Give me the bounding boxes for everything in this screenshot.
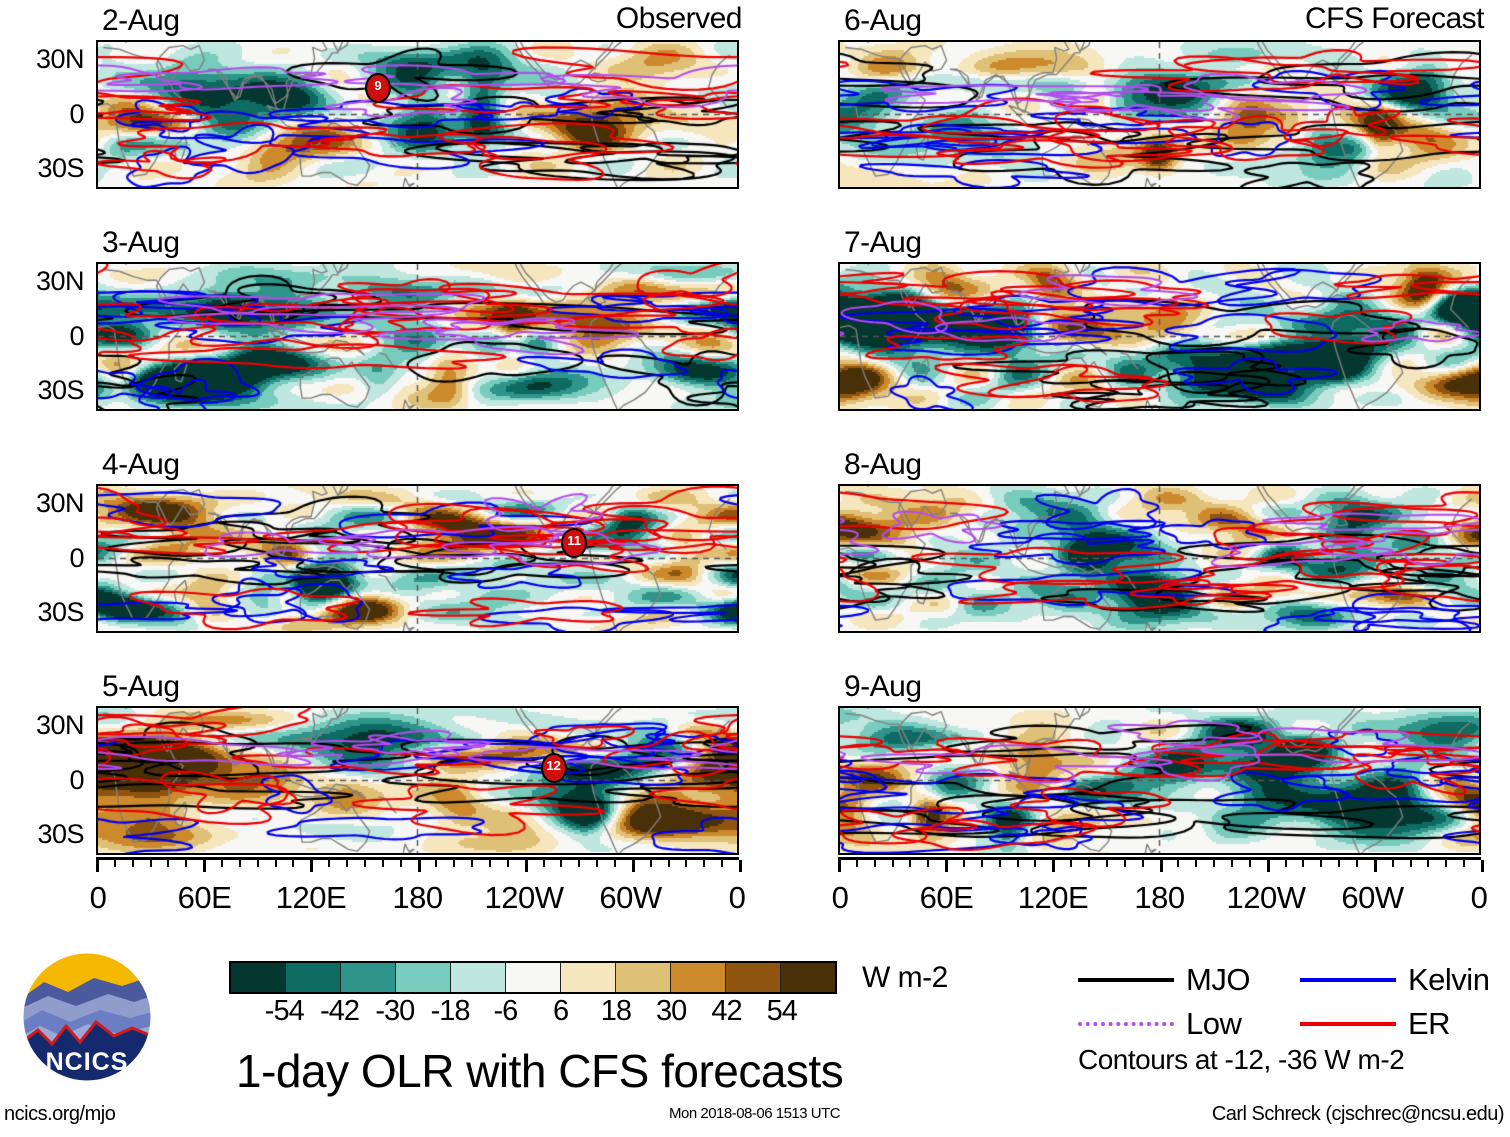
x-axis-label: 0 xyxy=(1419,882,1510,913)
map-panel-7-aug xyxy=(838,262,1481,411)
x-axis-tick xyxy=(909,860,911,867)
x-axis-tick xyxy=(275,860,277,867)
x-axis-tick xyxy=(221,860,223,867)
x-axis-tick xyxy=(418,860,421,872)
x-axis-tick xyxy=(292,860,294,867)
x-axis-tick xyxy=(185,860,187,867)
olr-shading-canvas xyxy=(840,42,1479,187)
colorbar-ticks: -54-42-30-18-6618304254 xyxy=(229,997,837,1029)
legend-label: MJO xyxy=(1186,965,1250,995)
map-panel-5-aug xyxy=(96,706,739,855)
colorbar-tick-label: 18 xyxy=(601,997,631,1026)
x-axis-label: 60E xyxy=(887,882,1007,913)
x-axis-tick xyxy=(945,860,948,872)
x-axis-tick xyxy=(739,860,742,872)
map-panel-4-aug xyxy=(96,484,739,633)
x-axis-tick xyxy=(685,860,687,867)
x-axis-tick xyxy=(596,860,598,867)
panel-date-label: 5-Aug xyxy=(102,672,180,702)
map-panel-8-aug xyxy=(838,484,1481,633)
olr-shading-canvas xyxy=(98,708,737,853)
map-panel-9-aug xyxy=(838,706,1481,855)
x-axis-label: 60W xyxy=(571,882,691,913)
x-axis-tick xyxy=(453,860,455,867)
colorbar-swatch xyxy=(451,963,506,992)
x-axis-tick xyxy=(1231,860,1233,867)
footer-author: Carl Schreck (cjschrec@ncsu.edu) xyxy=(1212,1104,1504,1124)
x-axis-tick xyxy=(1017,860,1019,867)
x-axis-tick xyxy=(1320,860,1322,867)
colorbar-swatch xyxy=(506,963,561,992)
x-axis-tick xyxy=(1160,860,1163,872)
x-axis-tick xyxy=(525,860,528,872)
olr-shading-canvas xyxy=(98,264,737,409)
panel-date-label: 3-Aug xyxy=(102,228,180,258)
svg-text:NCICS: NCICS xyxy=(46,1048,129,1076)
x-axis-tick xyxy=(507,860,509,867)
ncics-logo-graphic: NCICS xyxy=(22,952,152,1082)
olr-shading-canvas xyxy=(840,708,1479,853)
colorbar-swatch xyxy=(781,963,835,992)
x-axis-tick xyxy=(346,860,348,867)
olr-shading-canvas xyxy=(840,486,1479,631)
colorbar-swatch xyxy=(616,963,671,992)
x-axis-tick xyxy=(96,860,99,872)
colorbar-swatch xyxy=(726,963,781,992)
x-axis-tick xyxy=(382,860,384,867)
y-axis-label: 30S xyxy=(0,155,84,182)
x-axis-tick-bar xyxy=(838,857,1481,872)
map-panel-6-aug xyxy=(838,40,1481,189)
x-axis-tick xyxy=(703,860,705,867)
legend-label: ER xyxy=(1408,1009,1450,1039)
footer-timestamp: Mon 2018-08-06 1513 UTC xyxy=(669,1104,840,1124)
colorbar-tick-label: -42 xyxy=(320,997,359,1026)
x-axis-tick xyxy=(1302,860,1304,867)
colorbar-tick-label: 54 xyxy=(767,997,797,1026)
x-axis-tick xyxy=(239,860,241,867)
storm-marker: 12 xyxy=(541,753,567,783)
x-axis-tick xyxy=(471,860,473,867)
y-axis-label: 30N xyxy=(0,268,84,295)
x-axis-label: 60W xyxy=(1313,882,1433,913)
y-axis-label: 0 xyxy=(0,323,84,350)
x-axis-tick xyxy=(632,860,635,872)
colorbar-swatch xyxy=(341,963,396,992)
x-axis-tick xyxy=(963,860,965,867)
panel-date-label: 6-Aug xyxy=(844,6,922,36)
colorbar-tick-label: 30 xyxy=(656,997,686,1026)
colorbar-tick-label: -54 xyxy=(265,997,304,1026)
x-axis-tick xyxy=(1124,860,1126,867)
x-axis-label: 180 xyxy=(1100,882,1220,913)
x-axis-tick xyxy=(1410,860,1412,867)
x-axis-label: 120W xyxy=(1206,882,1326,913)
x-axis-tick xyxy=(1052,860,1055,872)
x-axis-label: 120E xyxy=(251,882,371,913)
x-axis-label: 180 xyxy=(358,882,478,913)
olr-shading-canvas xyxy=(98,486,737,631)
x-axis-tick-bar xyxy=(96,857,739,872)
x-axis-tick xyxy=(1392,860,1394,867)
colorbar-tick-label: 6 xyxy=(553,997,568,1026)
legend-swatch-line xyxy=(1300,1022,1396,1026)
x-axis-tick xyxy=(489,860,491,867)
x-axis-tick xyxy=(1213,860,1215,867)
x-axis-tick xyxy=(203,860,206,872)
y-axis-label: 30N xyxy=(0,46,84,73)
y-axis-label: 0 xyxy=(0,545,84,572)
x-axis-tick xyxy=(1481,860,1484,872)
y-axis-label: 30N xyxy=(0,490,84,517)
colorbar-tick-label: 42 xyxy=(711,997,741,1026)
colorbar-tick-label: -30 xyxy=(375,997,414,1026)
x-axis-tick xyxy=(257,860,259,867)
x-axis-tick xyxy=(310,860,313,872)
x-axis-tick xyxy=(1338,860,1340,867)
x-axis-tick xyxy=(364,860,366,867)
y-axis-label: 30S xyxy=(0,599,84,626)
x-axis-label: 0 xyxy=(677,882,797,913)
x-axis-tick xyxy=(999,860,1001,867)
x-axis-tick xyxy=(114,860,116,867)
x-axis-tick xyxy=(543,860,545,867)
panel-date-label: 9-Aug xyxy=(844,672,922,702)
x-axis-tick xyxy=(328,860,330,867)
x-axis-tick xyxy=(1249,860,1251,867)
x-axis-tick xyxy=(1195,860,1197,867)
storm-marker: 9 xyxy=(365,73,391,103)
x-axis-tick xyxy=(892,860,894,867)
x-axis-tick xyxy=(578,860,580,867)
column-header-forecast: CFS Forecast xyxy=(1305,4,1484,34)
y-axis-label: 0 xyxy=(0,767,84,794)
x-axis-tick xyxy=(874,860,876,867)
ncics-logo: NCICS xyxy=(22,952,152,1082)
colorbar-swatch xyxy=(231,963,286,992)
x-axis-tick xyxy=(650,860,652,867)
x-axis-tick xyxy=(1034,860,1036,867)
x-axis-tick xyxy=(132,860,134,867)
map-panel-2-aug xyxy=(96,40,739,189)
x-axis-tick xyxy=(1070,860,1072,867)
x-axis-tick xyxy=(1356,860,1358,867)
y-axis-label: 30S xyxy=(0,821,84,848)
legend-note: Contours at -12, -36 W m-2 xyxy=(1078,1046,1404,1074)
olr-shading-canvas xyxy=(98,42,737,187)
x-axis-tick xyxy=(1267,860,1270,872)
x-axis-tick xyxy=(1445,860,1447,867)
x-axis-tick xyxy=(1142,860,1144,867)
olr-shading-canvas xyxy=(840,264,1479,409)
panel-date-label: 8-Aug xyxy=(844,450,922,480)
x-axis-tick xyxy=(1106,860,1108,867)
x-axis-tick xyxy=(856,860,858,867)
colorbar-units-label: W m-2 xyxy=(862,963,948,993)
x-axis-tick xyxy=(1285,860,1287,867)
legend-swatch-line xyxy=(1300,978,1396,982)
colorbar-swatch xyxy=(286,963,341,992)
legend-label: Low xyxy=(1186,1009,1241,1039)
legend-swatch-line xyxy=(1078,978,1174,982)
x-axis-tick xyxy=(400,860,402,867)
chart-title: 1-day OLR with CFS forecasts xyxy=(236,1046,843,1096)
x-axis-label: 120W xyxy=(464,882,584,913)
x-axis-tick xyxy=(927,860,929,867)
panel-date-label: 7-Aug xyxy=(844,228,922,258)
x-axis-tick xyxy=(1463,860,1465,867)
x-axis-tick xyxy=(838,860,841,872)
x-axis-label: 120E xyxy=(993,882,1113,913)
y-axis-label: 30N xyxy=(0,712,84,739)
x-axis-tick xyxy=(981,860,983,867)
x-axis-tick xyxy=(167,860,169,867)
panel-date-label: 4-Aug xyxy=(102,450,180,480)
colorbar xyxy=(229,961,837,994)
column-header-observed: Observed xyxy=(616,4,742,34)
x-axis-tick xyxy=(1427,860,1429,867)
x-axis-label: 0 xyxy=(780,882,900,913)
map-panel-3-aug xyxy=(96,262,739,411)
x-axis-tick xyxy=(435,860,437,867)
colorbar-swatch xyxy=(561,963,616,992)
x-axis-tick xyxy=(1177,860,1179,867)
y-axis-label: 0 xyxy=(0,101,84,128)
x-axis-label: 0 xyxy=(38,882,158,913)
panel-date-label: 2-Aug xyxy=(102,6,180,36)
x-axis-tick xyxy=(668,860,670,867)
x-axis-tick xyxy=(614,860,616,867)
legend-swatch-line xyxy=(1078,1022,1174,1026)
x-axis-tick xyxy=(560,860,562,867)
x-axis-tick xyxy=(1088,860,1090,867)
legend-label: Kelvin xyxy=(1408,965,1489,995)
colorbar-tick-label: -6 xyxy=(493,997,517,1026)
colorbar-swatch xyxy=(396,963,451,992)
x-axis-tick xyxy=(150,860,152,867)
colorbar-swatch xyxy=(671,963,726,992)
x-axis-tick xyxy=(721,860,723,867)
x-axis-label: 60E xyxy=(145,882,265,913)
colorbar-tick-label: -18 xyxy=(431,997,470,1026)
y-axis-label: 30S xyxy=(0,377,84,404)
footer-link[interactable]: ncics.org/mjo xyxy=(4,1104,115,1124)
x-axis-tick xyxy=(1374,860,1377,872)
